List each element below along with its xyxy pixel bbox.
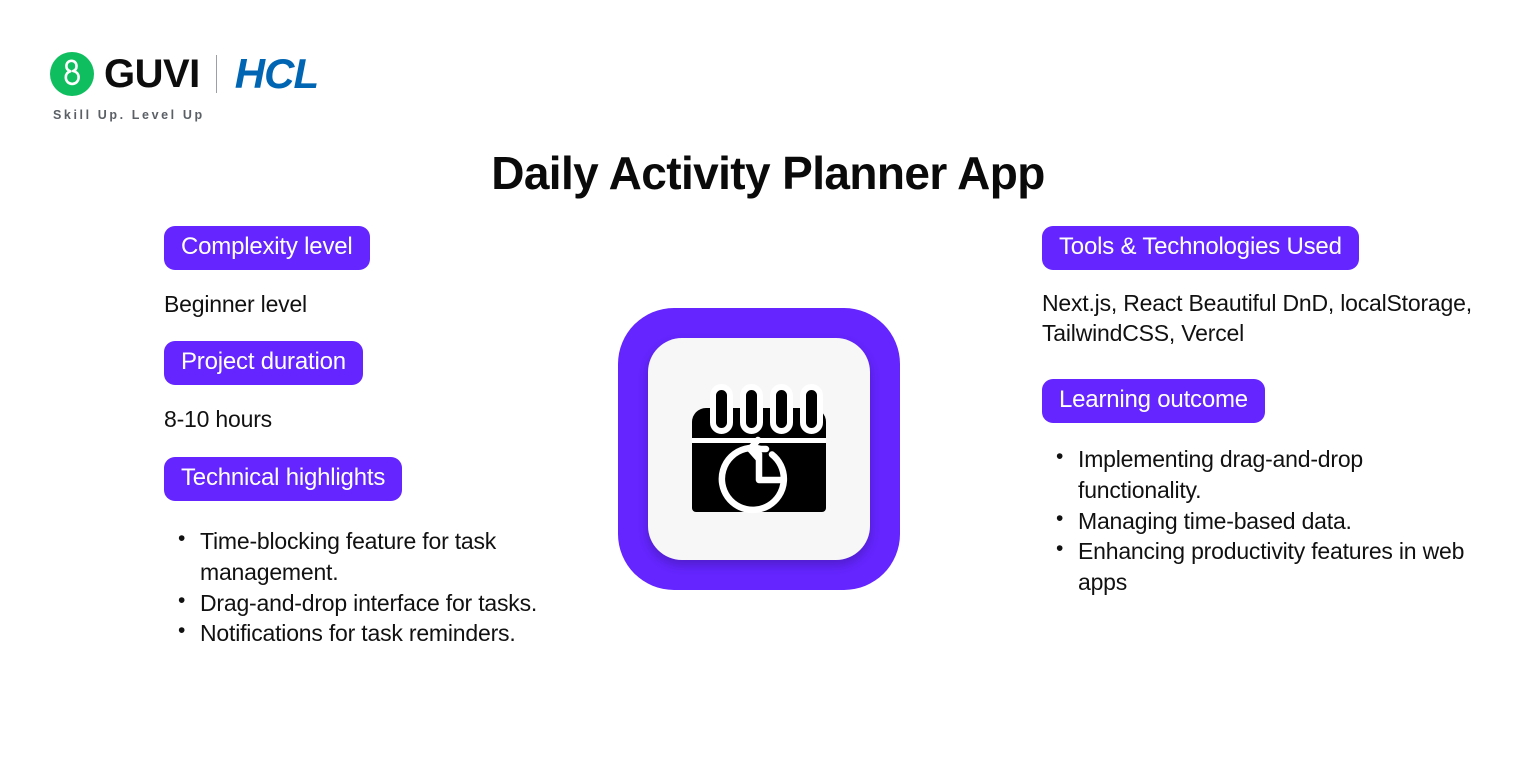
complexity-level-value: Beginner level <box>164 289 564 320</box>
app-icon-tile <box>618 308 900 590</box>
list-item: Managing time-based data. <box>1042 506 1472 537</box>
right-column: Tools & Technologies Used Next.js, React… <box>1042 226 1472 598</box>
badge-complexity-level: Complexity level <box>164 226 370 270</box>
guvi-wordmark: GUVI <box>104 54 200 94</box>
project-duration-value: 8-10 hours <box>164 404 564 435</box>
badge-learning-outcome: Learning outcome <box>1042 379 1265 423</box>
list-item: Drag-and-drop interface for tasks. <box>164 588 564 619</box>
list-item: Time-blocking feature for task managemen… <box>164 526 564 588</box>
brand-tagline: Skill Up. Level Up <box>53 108 318 122</box>
list-item: Implementing drag-and-drop functionality… <box>1042 444 1472 506</box>
badge-project-duration: Project duration <box>164 341 363 385</box>
tools-technologies-value: Next.js, React Beautiful DnD, localStora… <box>1042 288 1472 349</box>
brand-header: GUVI HCL Skill Up. Level Up <box>50 50 318 122</box>
list-item: Notifications for task reminders. <box>164 618 564 649</box>
calendar-clock-icon <box>686 376 832 522</box>
guvi-g-mark-icon <box>50 52 94 96</box>
app-icon-inner-card <box>648 338 870 560</box>
left-column: Complexity level Beginner level Project … <box>164 226 564 649</box>
brand-logo-row: GUVI HCL <box>50 50 318 98</box>
page-title: Daily Activity Planner App <box>0 146 1536 200</box>
technical-highlights-list: Time-blocking feature for task managemen… <box>164 526 564 649</box>
badge-tools-technologies: Tools & Technologies Used <box>1042 226 1359 270</box>
brand-divider <box>216 55 217 93</box>
badge-technical-highlights: Technical highlights <box>164 457 402 501</box>
hcl-wordmark: HCL <box>235 53 318 95</box>
list-item: Enhancing productivity features in web a… <box>1042 536 1472 598</box>
learning-outcome-list: Implementing drag-and-drop functionality… <box>1042 444 1472 598</box>
